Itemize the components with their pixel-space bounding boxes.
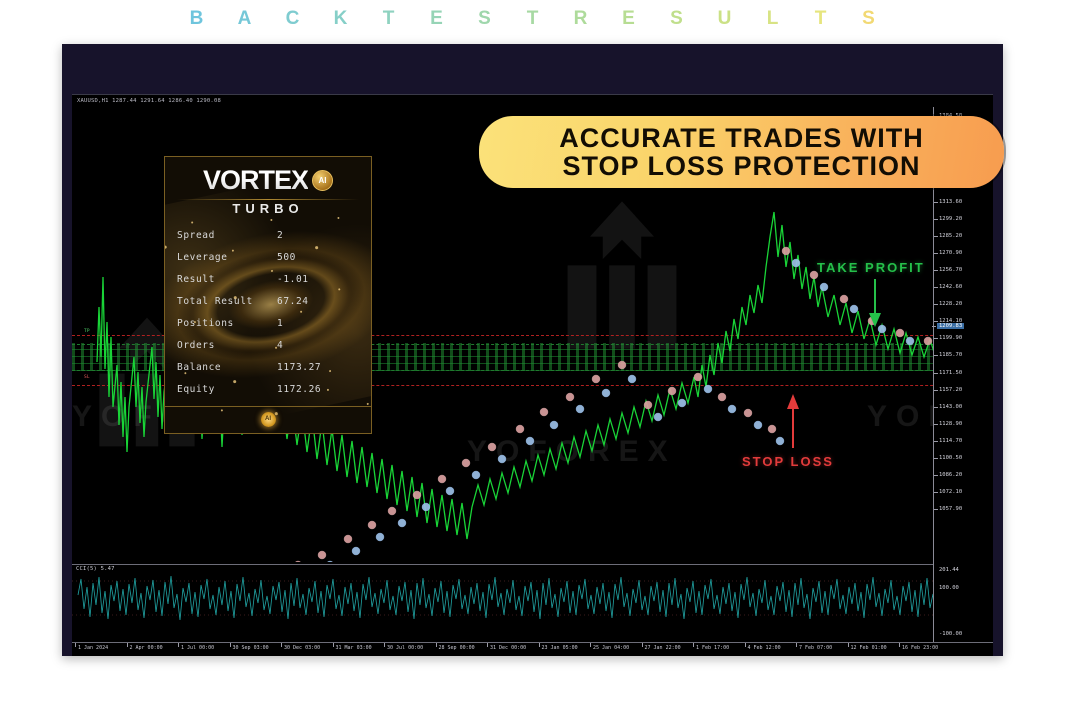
ai-sun-icon: AI bbox=[261, 412, 276, 427]
vortex-logo-subtitle: TURBO bbox=[165, 201, 371, 216]
page-title-letter: L bbox=[749, 8, 797, 30]
time-axis-tick: 23 Jan 05:00 bbox=[542, 645, 578, 651]
stop-loss-annotation: STOP LOSS bbox=[742, 454, 834, 469]
take-profit-annotation: TAKE PROFIT bbox=[817, 260, 925, 275]
page-title-letter: S bbox=[461, 8, 509, 30]
page-title-letter: T bbox=[797, 8, 845, 30]
stat-key: Result bbox=[177, 274, 277, 285]
galaxy-sparkle bbox=[270, 219, 272, 221]
stat-row-balance: Balance 1173.27 bbox=[177, 356, 371, 378]
stat-row-equity: Equity 1172.26 bbox=[177, 378, 371, 400]
page-title-letter: R bbox=[557, 8, 605, 30]
price-axis-tick: 1270.90 bbox=[939, 250, 962, 256]
headline-banner: ACCURATE TRADES WITH STOP LOSS PROTECTIO… bbox=[479, 116, 1004, 188]
time-axis-tick: 4 Feb 12:00 bbox=[748, 645, 781, 651]
time-axis-tick: 30 Sep 03:00 bbox=[233, 645, 269, 651]
page-title-letter: C bbox=[269, 8, 317, 30]
stat-key: Total Result bbox=[177, 296, 277, 307]
price-axis-tick: 1072.10 bbox=[939, 489, 962, 495]
vortex-stats-panel: VORTEX AI TURBO Spread 2 Leverage 500 Re… bbox=[164, 156, 372, 434]
price-axis-tick: 1100.50 bbox=[939, 455, 962, 461]
price-axis-tick: 1256.70 bbox=[939, 267, 962, 273]
stat-row-result: Result -1.01 bbox=[177, 268, 371, 290]
panel-footer: AI bbox=[165, 407, 371, 427]
page-root: BACKTESTRESULTS XAUUSD,H1 1287.44 1291.6… bbox=[0, 0, 1065, 720]
page-title: BACKTESTRESULTS bbox=[0, 8, 1065, 30]
stat-key: Equity bbox=[177, 384, 277, 395]
time-axis: 1 Jan 20242 Apr 00:001 Jul 00:0030 Sep 0… bbox=[72, 642, 993, 656]
vortex-logo-block: VORTEX AI TURBO bbox=[165, 157, 371, 216]
price-axis-tick: 1228.20 bbox=[939, 301, 962, 307]
page-title-letter: B bbox=[173, 8, 221, 30]
vortex-logo-text: VORTEX bbox=[203, 165, 308, 196]
stat-row-spread: Spread 2 bbox=[177, 224, 371, 246]
price-axis-tick: 1299.20 bbox=[939, 216, 962, 222]
price-axis-tick: 1285.20 bbox=[939, 233, 962, 239]
stat-row-leverage: Leverage 500 bbox=[177, 246, 371, 268]
indicator-axis-tick: -100.00 bbox=[939, 631, 962, 637]
time-axis-tick: 7 Feb 07:00 bbox=[799, 645, 832, 651]
time-axis-tick: 25 Jan 04:00 bbox=[593, 645, 629, 651]
indicator-axis-tick: 100.00 bbox=[939, 585, 959, 591]
page-title-letter: E bbox=[413, 8, 461, 30]
price-axis-tick: 1157.20 bbox=[939, 387, 962, 393]
stat-value: -1.01 bbox=[277, 274, 309, 285]
page-title-letter: U bbox=[701, 8, 749, 30]
stat-key: Balance bbox=[177, 362, 277, 373]
stat-key: Orders bbox=[177, 340, 277, 351]
ai-badge-icon: AI bbox=[312, 170, 333, 191]
stat-value: 1 bbox=[277, 318, 283, 329]
banner-line-2: STOP LOSS PROTECTION bbox=[562, 152, 920, 180]
sl-mini-label: SL bbox=[84, 375, 90, 380]
banner-line-1: ACCURATE TRADES WITH bbox=[559, 124, 923, 152]
screenshot-frame: XAUUSD,H1 1287.44 1291.64 1286.40 1290.0… bbox=[62, 44, 1003, 656]
stop-loss-arrow-icon bbox=[785, 392, 801, 450]
time-axis-tick: 1 Jan 2024 bbox=[78, 645, 108, 651]
time-axis-tick: 31 Dec 00:00 bbox=[490, 645, 526, 651]
stats-list: Spread 2 Leverage 500 Result -1.01 Total… bbox=[165, 224, 371, 400]
stat-value: 2 bbox=[277, 230, 283, 241]
time-axis-tick: 2 Apr 00:00 bbox=[130, 645, 163, 651]
chart-symbol-header: XAUUSD,H1 1287.44 1291.64 1286.40 1290.0… bbox=[72, 95, 993, 107]
price-axis-tick: 1086.20 bbox=[939, 472, 962, 478]
stat-key: Positions bbox=[177, 318, 277, 329]
stat-row-positions: Positions 1 bbox=[177, 312, 371, 334]
time-axis-tick: 30 Jul 00:00 bbox=[387, 645, 423, 651]
page-title-letter: A bbox=[221, 8, 269, 30]
time-axis-tick: 30 Dec 03:00 bbox=[284, 645, 320, 651]
logo-divider bbox=[177, 199, 359, 200]
tp-mini-label: TP bbox=[84, 329, 90, 334]
price-axis-tick: 1185.70 bbox=[939, 352, 962, 358]
page-title-letter: T bbox=[365, 8, 413, 30]
cci-indicator-pane[interactable]: CCI(5) 5.47 bbox=[72, 564, 993, 626]
stat-row-total-result: Total Result 67.24 bbox=[177, 290, 371, 312]
galaxy-sparkle bbox=[371, 338, 372, 340]
stat-value: 1172.26 bbox=[277, 384, 321, 395]
price-axis-tick: 1171.50 bbox=[939, 370, 962, 376]
price-axis-tick: 1199.90 bbox=[939, 335, 962, 341]
time-axis-tick: 27 Jan 22:00 bbox=[645, 645, 681, 651]
time-axis-tick: 31 Mar 03:00 bbox=[336, 645, 372, 651]
time-axis-tick: 12 Feb 01:00 bbox=[851, 645, 887, 651]
time-axis-tick: 16 Feb 23:00 bbox=[902, 645, 938, 651]
stat-value: 67.24 bbox=[277, 296, 309, 307]
price-axis-tick: 1143.00 bbox=[939, 404, 962, 410]
page-title-letter: K bbox=[317, 8, 365, 30]
stat-value: 1173.27 bbox=[277, 362, 321, 373]
time-axis-tick: 1 Feb 17:00 bbox=[696, 645, 729, 651]
price-axis-tick: 1313.60 bbox=[939, 199, 962, 205]
stat-row-orders: Orders 4 bbox=[177, 334, 371, 356]
stat-value: 4 bbox=[277, 340, 283, 351]
stat-key: Leverage bbox=[177, 252, 277, 263]
galaxy-sparkle bbox=[337, 217, 339, 219]
price-axis-tick: 1057.90 bbox=[939, 506, 962, 512]
price-axis-tick: 1242.60 bbox=[939, 284, 962, 290]
time-axis-tick: 28 Sep 00:00 bbox=[439, 645, 475, 651]
current-price-label: 1209.83 bbox=[937, 323, 964, 329]
time-axis-tick: 1 Jul 00:00 bbox=[181, 645, 214, 651]
price-axis-tick: 1114.70 bbox=[939, 438, 962, 444]
page-title-letter: E bbox=[605, 8, 653, 30]
cci-indicator-series bbox=[72, 565, 993, 626]
take-profit-arrow-icon bbox=[867, 279, 883, 329]
stat-value: 500 bbox=[277, 252, 296, 263]
stat-key: Spread bbox=[177, 230, 277, 241]
page-title-letter: S bbox=[653, 8, 701, 30]
page-title-letter: T bbox=[509, 8, 557, 30]
price-axis-tick: 1128.90 bbox=[939, 421, 962, 427]
indicator-axis-tick: 201.44 bbox=[939, 567, 959, 573]
page-title-letter: S bbox=[845, 8, 893, 30]
